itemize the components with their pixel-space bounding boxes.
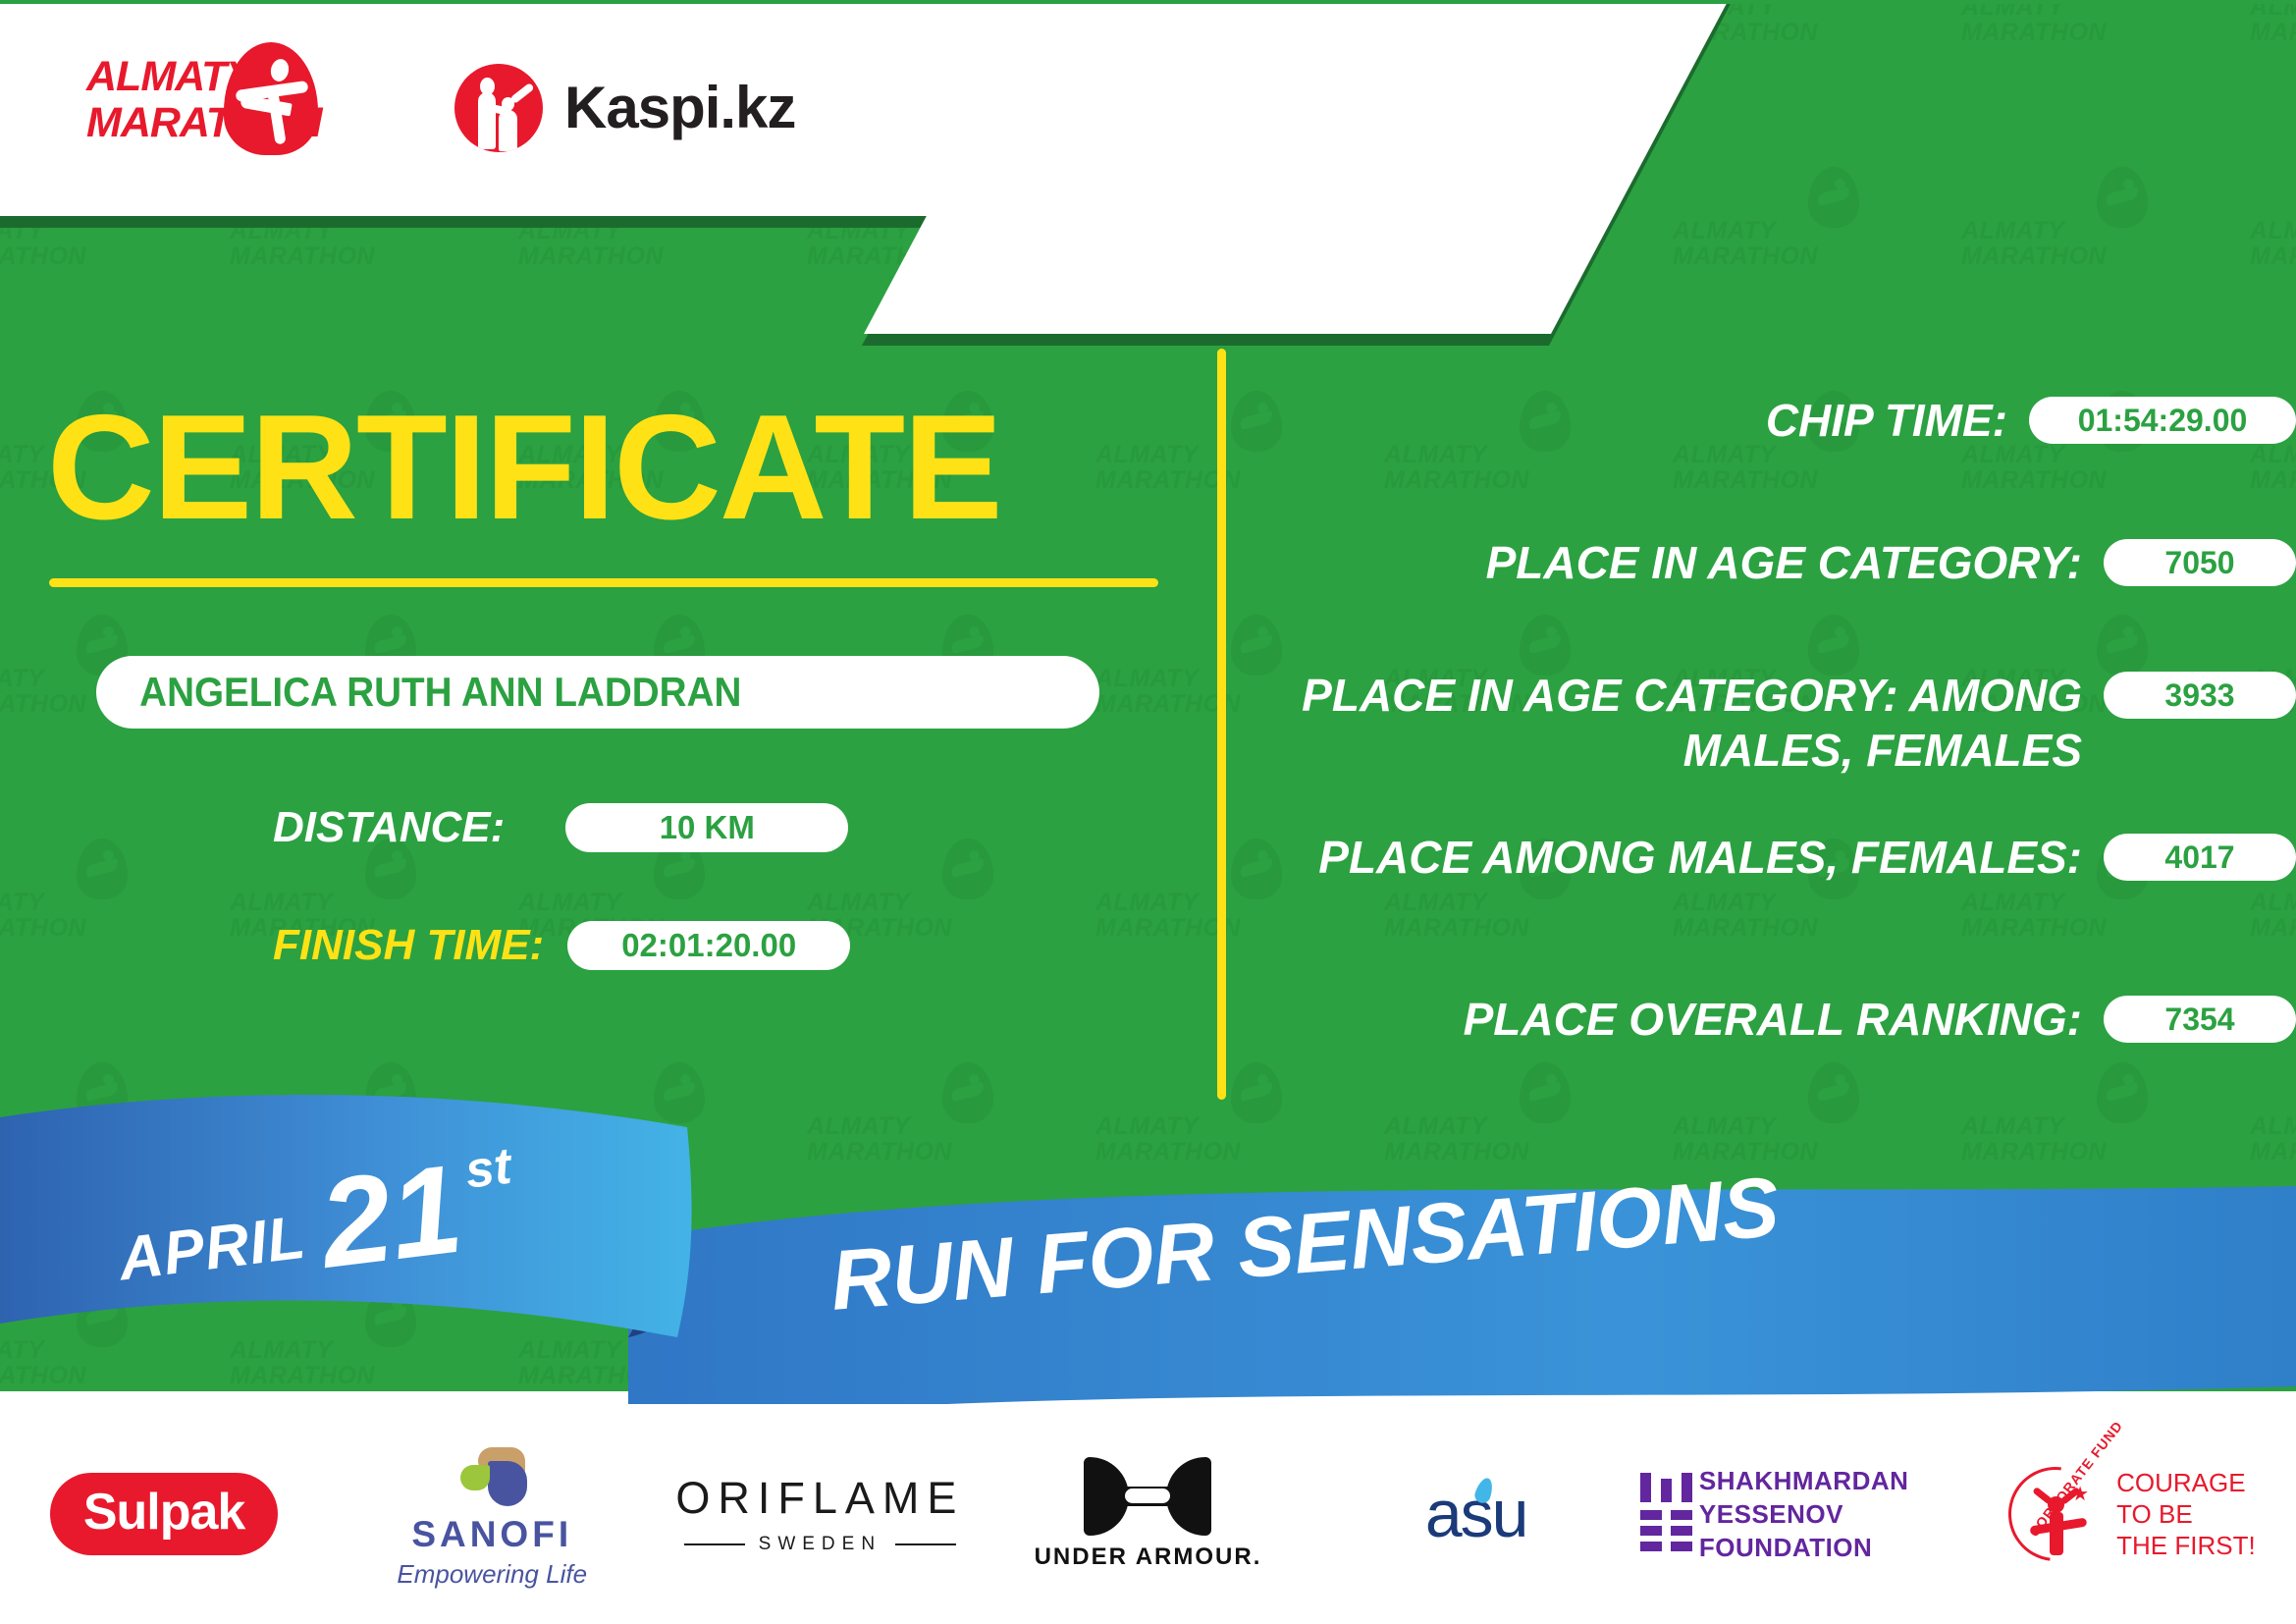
participant-name-value: ANGELICA RUTH ANN LADDRAN bbox=[96, 669, 741, 716]
top-rule bbox=[0, 0, 2296, 4]
oriflame-rule-right bbox=[895, 1543, 956, 1545]
place-overall-value: 7354 bbox=[2104, 996, 2296, 1043]
finish-time-value: 02:01:20.00 bbox=[567, 921, 850, 970]
distance-label: DISTANCE: bbox=[273, 803, 505, 852]
stat-row: PLACE AMONG MALES, FEMALES: 4017 bbox=[1227, 830, 2296, 885]
yessenov-line2: FOUNDATION bbox=[1699, 1531, 1968, 1564]
title-underline bbox=[49, 578, 1158, 587]
sponsor-courage-fund: ★ CORPORATE FUND COURAGE TO BE THE FIRST… bbox=[1968, 1431, 2296, 1597]
oriflame-logo-text: ORIFLAME bbox=[675, 1473, 964, 1524]
place-age-category-gender-label: PLACE IN AGE CATEGORY: AMONG MALES, FEMA… bbox=[1227, 668, 2104, 778]
two-figures-circle-icon bbox=[454, 64, 543, 152]
yessenov-mark-icon bbox=[1640, 1473, 1680, 1555]
sanofi-tagline: Empowering Life bbox=[397, 1559, 587, 1590]
courage-line2: TO BE bbox=[2116, 1498, 2256, 1530]
participant-name-field: ANGELICA RUTH ANN LADDRAN bbox=[96, 656, 1099, 729]
distance-row: DISTANCE: 10 KM bbox=[273, 803, 848, 852]
stat-row: PLACE IN AGE CATEGORY: 7050 bbox=[1227, 535, 2296, 590]
oriflame-sub-text: SWEDEN bbox=[759, 1534, 881, 1555]
stat-row: PLACE IN AGE CATEGORY: AMONG MALES, FEMA… bbox=[1227, 668, 2296, 778]
chip-time-value: 01:54:29.00 bbox=[2029, 397, 2296, 444]
courage-line3: THE FIRST! bbox=[2116, 1530, 2256, 1561]
asu-logo-text: asu bbox=[1425, 1476, 1527, 1552]
certificate-page: ALMATY MARATHONALMATY MARATHONALMATY MAR… bbox=[0, 0, 2296, 1624]
sponsor-yessenov-foundation: SHAKHMARDAN YESSENOV FOUNDATION bbox=[1640, 1431, 1968, 1597]
sulpak-logo-text: Sulpak bbox=[50, 1473, 279, 1555]
finish-time-row: FINISH TIME: 02:01:20.00 bbox=[273, 921, 850, 970]
under-armour-logo-text: UNDER ARMOUR. bbox=[1035, 1543, 1262, 1571]
stat-row: CHIP TIME: 01:54:29.00 bbox=[1227, 393, 2296, 448]
stat-row: PLACE OVERALL RANKING: 7354 bbox=[1227, 992, 2296, 1047]
chip-time-label: CHIP TIME: bbox=[1227, 393, 2029, 448]
sanofi-mark-icon bbox=[451, 1447, 533, 1508]
almaty-marathon-logo: ALMATY MARATHON bbox=[86, 44, 400, 157]
sponsor-sanofi: SANOFI Empowering Life bbox=[328, 1431, 656, 1597]
place-age-category-value: 7050 bbox=[2104, 539, 2296, 586]
place-overall-label: PLACE OVERALL RANKING: bbox=[1227, 992, 2104, 1047]
event-day: 21 bbox=[315, 1155, 467, 1279]
place-among-gender-value: 4017 bbox=[2104, 834, 2296, 881]
finish-time-label: FINISH TIME: bbox=[273, 921, 544, 970]
sponsor-under-armour: UNDER ARMOUR. bbox=[984, 1431, 1311, 1597]
sponsor-oriflame: ORIFLAME SWEDEN bbox=[656, 1431, 984, 1597]
distance-value: 10 KM bbox=[565, 803, 848, 852]
sponsor-asu: asu bbox=[1312, 1431, 1640, 1597]
yessenov-line1: SHAKHMARDAN YESSENOV bbox=[1699, 1464, 1968, 1531]
courage-line1: COURAGE bbox=[2116, 1467, 2256, 1498]
vertical-divider bbox=[1217, 349, 1226, 1100]
place-age-category-gender-value: 3933 bbox=[2104, 672, 2296, 719]
page-title: CERTIFICATE bbox=[47, 393, 1001, 542]
sanofi-logo-text: SANOFI bbox=[397, 1514, 587, 1555]
kaspi-logo: Kaspi.kz bbox=[454, 61, 808, 154]
place-age-category-label: PLACE IN AGE CATEGORY: bbox=[1227, 535, 2104, 590]
place-among-gender-label: PLACE AMONG MALES, FEMALES: bbox=[1227, 830, 2104, 885]
sponsor-sulpak: Sulpak bbox=[0, 1431, 328, 1597]
oriflame-rule-left bbox=[684, 1543, 745, 1545]
under-armour-icon bbox=[1084, 1457, 1211, 1536]
sponsors-bar: Sulpak SANOFI Empowering Life ORIFLAME S… bbox=[0, 1404, 2296, 1624]
kaspi-logo-text: Kaspi.kz bbox=[564, 74, 795, 141]
